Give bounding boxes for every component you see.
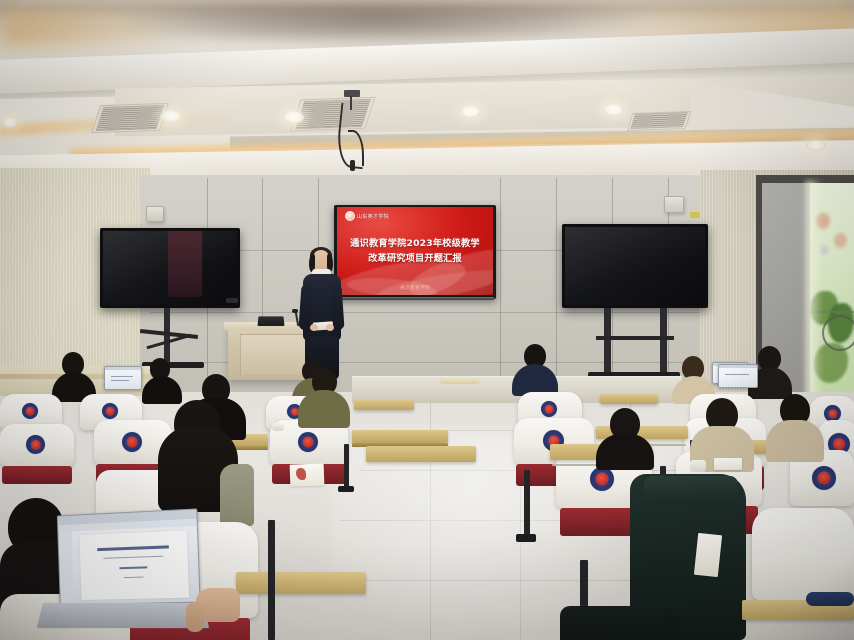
classroom-photo: 山东英才学院 通识教育学院2023年校级教学 改革研究项目开题汇报 通识教育学院 xyxy=(0,0,854,640)
person-shoulders xyxy=(596,434,654,470)
desk-row-e-1 xyxy=(236,572,366,594)
ceiling-light-icon-5 xyxy=(603,104,624,116)
university-seal-icon xyxy=(345,211,355,221)
seat-leg-foot xyxy=(516,534,536,542)
paper-sheet-1 xyxy=(290,463,325,486)
university-emblem-icon xyxy=(102,403,118,419)
screen-bottom-bar xyxy=(336,297,494,300)
screen-title-line-2: 改革研究项目开题汇报 xyxy=(337,251,493,266)
right-tv-stand-column xyxy=(604,308,611,374)
poster-figure-2 xyxy=(834,233,847,248)
doc-line xyxy=(725,374,749,375)
university-emblem-icon xyxy=(298,432,318,452)
audience-person-4 xyxy=(512,344,558,394)
ceiling-warm-glow-left xyxy=(0,8,200,48)
air-vent-icon-3 xyxy=(630,112,687,129)
doc-line xyxy=(111,376,133,377)
university-emblem-icon xyxy=(22,403,38,419)
seat-leg xyxy=(524,470,530,540)
document-page xyxy=(79,530,189,600)
draped-cloth-left-tv xyxy=(168,231,202,297)
right-tv-stand-column-2 xyxy=(660,308,667,374)
paper-in-coat-pocket xyxy=(694,533,722,577)
seat-leg xyxy=(268,520,275,640)
audience-person-8 xyxy=(298,368,350,426)
ceiling-light-icon-6 xyxy=(806,140,826,151)
laptop-icon-3[interactable] xyxy=(718,364,758,388)
cup-icon-2 xyxy=(690,460,706,472)
foreground-dark-object xyxy=(560,606,680,640)
ceiling-light-icon-3 xyxy=(2,117,18,128)
university-emblem-icon xyxy=(812,466,836,490)
speaker-icon-right xyxy=(664,196,684,213)
red-mark-on-paper xyxy=(296,468,306,480)
bicycle-wheel-icon xyxy=(822,315,854,351)
university-emblem-icon xyxy=(122,432,142,452)
screen-title: 通识教育学院2023年校级教学 改革研究项目开题汇报 xyxy=(337,236,493,266)
paper-sheet-2 xyxy=(714,458,742,470)
wall-tile-line xyxy=(500,178,501,378)
desk-object xyxy=(440,378,480,384)
right-tv-glare xyxy=(565,227,705,305)
wall-sticker xyxy=(690,212,700,218)
audience-person-10 xyxy=(596,408,654,466)
podium-laptop[interactable] xyxy=(257,316,284,326)
seat-base xyxy=(2,466,72,484)
speaker-icon-left xyxy=(146,206,164,222)
laptop-sidebar xyxy=(58,531,74,604)
university-emblem-icon xyxy=(541,401,557,417)
desk-row-b-2 xyxy=(600,394,658,404)
presenter-hand-right xyxy=(326,324,334,331)
desk-row-d-1 xyxy=(366,446,476,462)
audience-person-2 xyxy=(142,358,182,402)
person-finger-foreground xyxy=(186,602,204,632)
screen-logo-text: 山东英才学院 xyxy=(357,213,389,220)
university-emblem-icon xyxy=(26,435,45,454)
laptop-toolbar xyxy=(719,365,757,368)
door-light-glare xyxy=(806,181,822,407)
left-tv-logo xyxy=(226,298,238,303)
projector-mount xyxy=(344,90,360,97)
coat-collar xyxy=(644,476,738,504)
person-shoulders xyxy=(766,420,824,462)
ceiling-light-icon-2 xyxy=(283,111,304,124)
right-tv-stand-shelf xyxy=(596,336,674,340)
laptop-toolbar xyxy=(105,367,141,370)
laptop-icon-foreground[interactable] xyxy=(57,508,201,605)
screen-institution-logo: 山东英才学院 xyxy=(345,211,389,221)
person-sweater xyxy=(220,464,254,526)
air-vent-icon-2 xyxy=(96,105,164,131)
laptop-icon-1[interactable] xyxy=(104,366,142,390)
ceiling-light-icon-4 xyxy=(460,106,481,118)
seat-leg xyxy=(344,444,349,490)
audience-person-12 xyxy=(766,394,824,458)
cup-icon-1 xyxy=(272,423,284,431)
person-shoulders xyxy=(298,390,350,428)
blue-object-on-desk xyxy=(806,592,854,606)
doc-line xyxy=(111,380,129,381)
audience-person-1 xyxy=(52,352,96,400)
right-tv[interactable] xyxy=(562,224,708,308)
desk-row-b-1 xyxy=(354,400,414,410)
seat-back xyxy=(752,508,854,600)
university-emblem-icon xyxy=(590,467,614,491)
ceiling-light-icon-1 xyxy=(160,110,182,123)
screen-title-line-1: 通识教育学院2023年校级教学 xyxy=(337,236,493,251)
desk-row-c-2 xyxy=(352,430,448,443)
laptop-keyboard-base[interactable] xyxy=(37,603,210,628)
screen-footer-text: 通识教育学院 xyxy=(337,285,493,291)
cable-plug xyxy=(350,160,355,171)
presenter-hand-left xyxy=(310,324,318,331)
seat-leg-foot xyxy=(338,486,354,492)
